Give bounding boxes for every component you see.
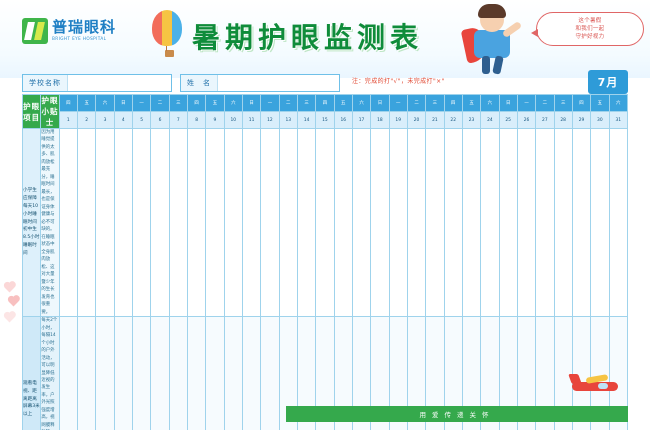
- school-field[interactable]: 学校名称: [22, 74, 172, 92]
- check-cell[interactable]: [187, 317, 205, 430]
- school-label: 学校名称: [23, 75, 68, 91]
- daynum-13: 14: [297, 112, 315, 129]
- green-eye-logo-icon: [22, 18, 48, 44]
- daynum-11: 12: [261, 112, 279, 129]
- name-field[interactable]: 姓 名: [180, 74, 340, 92]
- daynum-15: 16: [334, 112, 352, 129]
- check-cell[interactable]: [224, 317, 242, 430]
- heart-icon-3: [5, 313, 15, 323]
- check-cell[interactable]: [261, 317, 279, 430]
- weekday-11: 一: [261, 95, 279, 112]
- header: 普瑞眼科 BRIGHT EYE HOSPITAL 暑期护眼监测表 这个暑假 和我…: [0, 0, 650, 78]
- col-header-item: 护眼项目: [23, 95, 41, 129]
- weekday-18: 一: [389, 95, 407, 112]
- check-cell[interactable]: [114, 129, 132, 317]
- check-cell[interactable]: [407, 129, 425, 317]
- weekday-14: 四: [316, 95, 334, 112]
- weekday-16: 六: [352, 95, 370, 112]
- daynum-3: 4: [114, 112, 132, 129]
- daynum-0: 1: [59, 112, 77, 129]
- daynum-2: 3: [96, 112, 114, 129]
- weekday-30: 六: [609, 95, 628, 112]
- weekday-10: 日: [242, 95, 260, 112]
- bubble-line-3: 守护好视力: [575, 33, 604, 41]
- daynum-21: 22: [444, 112, 462, 129]
- check-cell[interactable]: [151, 129, 169, 317]
- heart-icon-1: [5, 283, 15, 293]
- check-cell[interactable]: [242, 317, 260, 430]
- weekday-27: 三: [554, 95, 572, 112]
- check-cell[interactable]: [316, 129, 334, 317]
- daynum-27: 28: [554, 112, 572, 129]
- weekday-2: 六: [96, 95, 114, 112]
- weekday-23: 六: [481, 95, 499, 112]
- weekday-6: 三: [169, 95, 187, 112]
- weekday-28: 四: [572, 95, 590, 112]
- weekday-0: 四: [59, 95, 77, 112]
- check-cell[interactable]: [132, 129, 150, 317]
- name-input[interactable]: [218, 75, 339, 91]
- brand-name-en: BRIGHT EYE HOSPITAL: [52, 37, 116, 41]
- daynum-20: 21: [426, 112, 444, 129]
- daynum-7: 8: [187, 112, 205, 129]
- check-cell[interactable]: [59, 129, 77, 317]
- check-cell[interactable]: [536, 129, 554, 317]
- weekday-3: 日: [114, 95, 132, 112]
- check-cell[interactable]: [609, 129, 628, 317]
- weekday-13: 三: [297, 95, 315, 112]
- weekday-17: 日: [371, 95, 389, 112]
- check-cell[interactable]: [481, 129, 499, 317]
- weekday-20: 三: [426, 95, 444, 112]
- check-cell[interactable]: [132, 317, 150, 430]
- brand-name-cn: 普瑞眼科: [52, 20, 116, 35]
- check-cell[interactable]: [572, 129, 590, 317]
- check-cell[interactable]: [96, 317, 114, 430]
- airplane-icon: [568, 374, 626, 400]
- weekday-15: 五: [334, 95, 352, 112]
- weekday-26: 二: [536, 95, 554, 112]
- fill-note: 注：完成的打"√"，未完成打"×": [352, 76, 445, 85]
- brand-logo: 普瑞眼科 BRIGHT EYE HOSPITAL: [22, 18, 116, 44]
- check-cell[interactable]: [151, 317, 169, 430]
- table-row: 小学生应保障每天10小时睡眠时间 初中生8.5小时睡眠时间因为用睡觉提供的太多、…: [23, 129, 628, 317]
- check-cell[interactable]: [224, 129, 242, 317]
- weekday-29: 五: [591, 95, 609, 112]
- daynum-8: 9: [206, 112, 224, 129]
- daynum-5: 6: [151, 112, 169, 129]
- daynum-14: 15: [316, 112, 334, 129]
- check-cell[interactable]: [352, 129, 370, 317]
- daynum-28: 29: [572, 112, 590, 129]
- weekday-5: 二: [151, 95, 169, 112]
- bubble-line-2: 和我们一起: [575, 25, 604, 33]
- month-badge: 7月: [588, 70, 628, 94]
- row-item-label: 小学生应保障每天10小时睡眠时间 初中生8.5小时睡眠时间: [23, 129, 41, 317]
- daynum-26: 27: [536, 112, 554, 129]
- daynum-10: 11: [242, 112, 260, 129]
- daynum-6: 7: [169, 112, 187, 129]
- page-title: 暑期护眼监测表: [192, 16, 423, 56]
- check-cell[interactable]: [444, 129, 462, 317]
- check-cell[interactable]: [96, 129, 114, 317]
- poster-page: 普瑞眼科 BRIGHT EYE HOSPITAL 暑期护眼监测表 这个暑假 和我…: [0, 0, 650, 430]
- check-cell[interactable]: [279, 129, 297, 317]
- hot-air-balloon-icon: [152, 10, 186, 62]
- daynum-1: 2: [77, 112, 95, 129]
- weekday-24: 日: [499, 95, 517, 112]
- weekday-22: 五: [462, 95, 480, 112]
- check-cell[interactable]: [462, 129, 480, 317]
- footer-slogan: 用爱传递关怀: [286, 406, 628, 422]
- daynum-24: 25: [499, 112, 517, 129]
- weekday-9: 六: [224, 95, 242, 112]
- weekday-21: 四: [444, 95, 462, 112]
- daynum-16: 17: [352, 112, 370, 129]
- daynum-23: 24: [481, 112, 499, 129]
- check-cell[interactable]: [389, 129, 407, 317]
- check-cell[interactable]: [517, 129, 535, 317]
- check-cell[interactable]: [59, 317, 77, 430]
- daynum-22: 23: [462, 112, 480, 129]
- daynum-18: 19: [389, 112, 407, 129]
- check-cell[interactable]: [554, 129, 572, 317]
- check-cell[interactable]: [187, 129, 205, 317]
- weekday-4: 一: [132, 95, 150, 112]
- check-cell[interactable]: [169, 317, 187, 430]
- bubble-line-1: 这个暑假: [578, 17, 601, 25]
- check-cell[interactable]: [114, 317, 132, 430]
- check-cell[interactable]: [206, 317, 224, 430]
- weekday-7: 四: [187, 95, 205, 112]
- daynum-29: 30: [591, 112, 609, 129]
- daynum-25: 26: [517, 112, 535, 129]
- row-item-label: 观看电视、距离距离屏幕3米以上: [23, 317, 41, 430]
- weekday-25: 一: [517, 95, 535, 112]
- info-row: 学校名称 姓 名 注：完成的打"√"，未完成打"×" 7月: [22, 74, 628, 92]
- check-cell[interactable]: [426, 129, 444, 317]
- check-cell[interactable]: [297, 129, 315, 317]
- heart-decoration: [4, 270, 22, 340]
- row-tip-text: 因为用睡觉提供的太多、肌肉放松最充分，睡眠时间最长，也是保证身体健康与必不可缺的…: [41, 129, 59, 317]
- weekday-12: 二: [279, 95, 297, 112]
- weekday-1: 五: [77, 95, 95, 112]
- check-cell[interactable]: [371, 129, 389, 317]
- daynum-19: 20: [407, 112, 425, 129]
- check-cell[interactable]: [77, 129, 95, 317]
- monitor-table: 护眼项目 护眼小贴士 四 五 六 日 一 二 三 四 五 六 日 一 二 三 四…: [22, 94, 628, 430]
- weekday-19: 二: [407, 95, 425, 112]
- speech-bubble: 这个暑假 和我们一起 守护好视力: [536, 12, 644, 46]
- daynum-9: 10: [224, 112, 242, 129]
- table-body: 小学生应保障每天10小时睡眠时间 初中生8.5小时睡眠时间因为用睡觉提供的太多、…: [23, 129, 628, 430]
- heart-icon-2: [9, 297, 19, 307]
- check-cell[interactable]: [242, 129, 260, 317]
- daynum-4: 5: [132, 112, 150, 129]
- check-cell[interactable]: [77, 317, 95, 430]
- daynum-17: 18: [371, 112, 389, 129]
- daynum-30: 31: [609, 112, 628, 129]
- daynum-12: 13: [279, 112, 297, 129]
- check-cell[interactable]: [334, 129, 352, 317]
- school-input[interactable]: [68, 75, 171, 91]
- weekday-8: 五: [206, 95, 224, 112]
- col-header-tip: 护眼小贴士: [41, 95, 59, 129]
- check-cell[interactable]: [499, 129, 517, 317]
- table-daynum-row: 1 2 3 4 5 6 7 8 9 10 11 12 13 14 15 16 1…: [23, 112, 628, 129]
- name-label: 姓 名: [181, 75, 218, 91]
- check-cell[interactable]: [261, 129, 279, 317]
- super-hero-kid-icon: [460, 4, 530, 76]
- check-cell[interactable]: [169, 129, 187, 317]
- table-header-row: 护眼项目 护眼小贴士 四 五 六 日 一 二 三 四 五 六 日 一 二 三 四…: [23, 95, 628, 112]
- table-head: 护眼项目 护眼小贴士 四 五 六 日 一 二 三 四 五 六 日 一 二 三 四…: [23, 95, 628, 129]
- check-cell[interactable]: [206, 129, 224, 317]
- check-cell[interactable]: [591, 129, 609, 317]
- row-tip-text: 每天2个小时，每隔14个小时的户外活动，可以明显降低近视的发生率，户外光照强度增…: [41, 317, 59, 430]
